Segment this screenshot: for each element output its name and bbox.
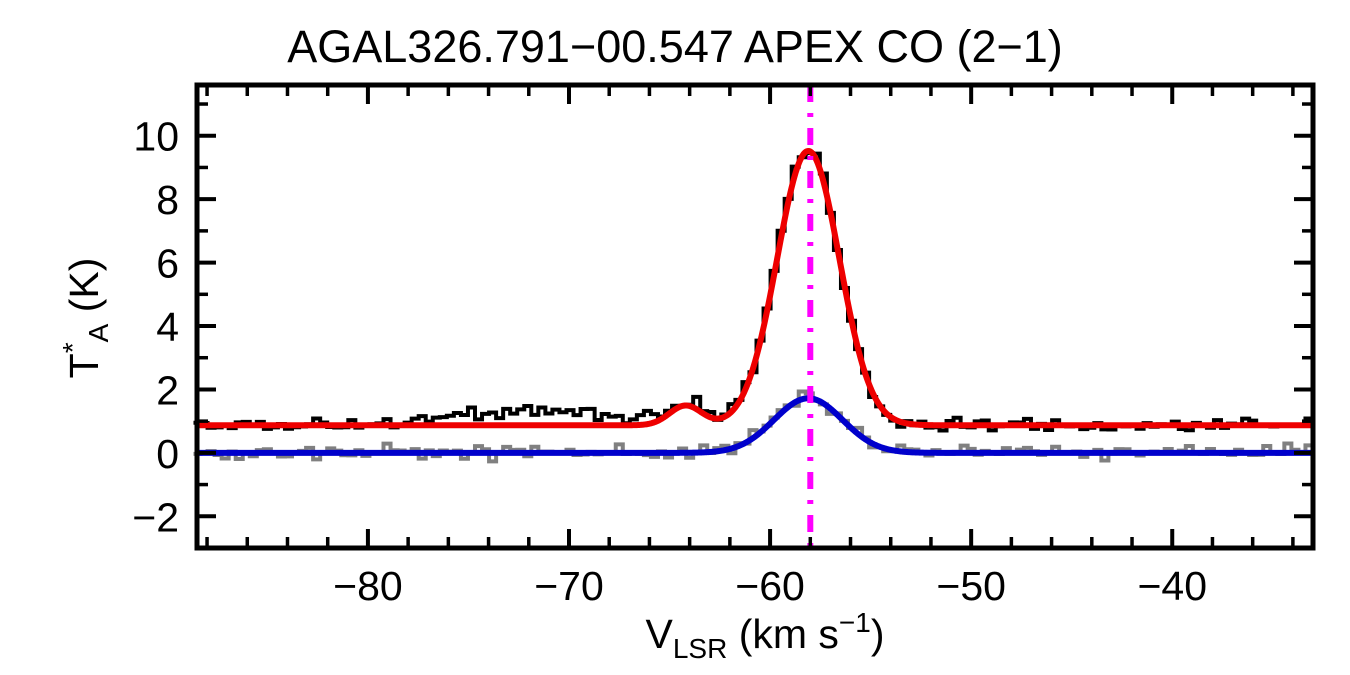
x-label-unit-exponent: −1 — [839, 607, 871, 638]
x-tick-label: −70 — [534, 563, 604, 609]
axes-frame — [197, 85, 1313, 548]
y-tick-label: −2 — [132, 494, 179, 540]
y-label-star: * — [57, 342, 88, 353]
tick-label-layer: −80−70−60−50−401086420−2 — [132, 114, 1207, 609]
x-tick-label: −50 — [936, 563, 1006, 609]
y-tick-label: 2 — [156, 367, 179, 413]
y-tick-label: 4 — [156, 304, 179, 350]
x-label-unit-open: (km s — [727, 611, 839, 657]
x-label-sub: LSR — [673, 633, 727, 664]
y-tick-label: 8 — [156, 177, 179, 223]
data-layer — [193, 151, 1313, 461]
x-tick-label: −40 — [1137, 563, 1207, 609]
x-label-main: V — [645, 611, 673, 657]
y-label-unit: (K) — [61, 258, 107, 324]
y-label-sub: A — [83, 323, 114, 342]
total-gaussian-fit-curve — [197, 151, 1313, 425]
page-title: AGAL326.791−00.547 APEX CO (2−1) — [287, 21, 1063, 72]
svg-text:T*A (K): T*A (K) — [57, 258, 114, 379]
plot-title-group: AGAL326.791−00.547 APEX CO (2−1) — [287, 21, 1063, 72]
spectrum-figure: AGAL326.791−00.547 APEX CO (2−1) −80−70−… — [0, 0, 1350, 675]
y-tick-label: 10 — [133, 114, 179, 160]
observed-spectrum-trace — [193, 153, 1312, 430]
x-tick-label: −60 — [735, 563, 805, 609]
y-tick-label: 6 — [156, 241, 179, 287]
y-label-main: T — [61, 353, 107, 378]
svg-text:VLSR (km s−1): VLSR (km s−1) — [645, 607, 884, 664]
y-tick-label: 0 — [156, 431, 179, 477]
x-label-unit-close: ) — [871, 611, 885, 657]
x-tick-label: −80 — [333, 563, 403, 609]
axes-box — [197, 85, 1313, 548]
x-axis-label: VLSR (km s−1) — [645, 607, 884, 664]
plot-canvas: AGAL326.791−00.547 APEX CO (2−1) −80−70−… — [0, 0, 1350, 675]
y-axis-label: T*A (K) — [57, 258, 114, 379]
